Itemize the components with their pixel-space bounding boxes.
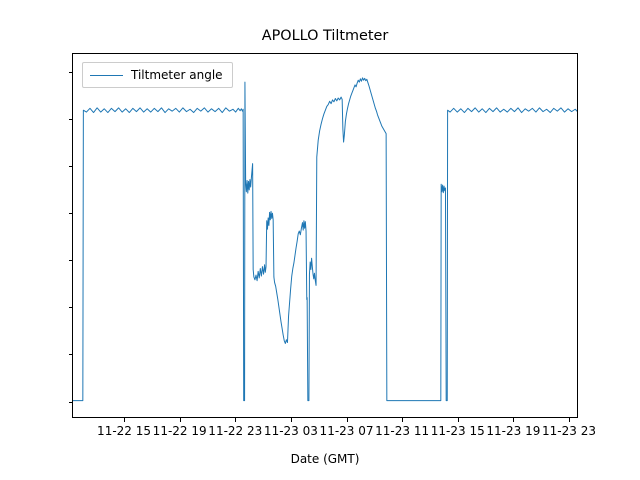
chart-title: APOLLO Tiltmeter xyxy=(72,28,578,44)
x-tick-mark xyxy=(347,418,348,422)
x-tick-label: 11-23 03 xyxy=(264,424,318,438)
x-tick-label: 11-23 07 xyxy=(320,424,374,438)
plot-area xyxy=(72,53,578,418)
x-tick-mark xyxy=(402,418,403,422)
chart-legend: Tiltmeter angle xyxy=(82,62,233,88)
x-tick-label: 11-22 15 xyxy=(97,424,151,438)
x-tick-mark xyxy=(124,418,125,422)
x-tick-label: 11-23 19 xyxy=(486,424,540,438)
x-tick-label: 11-23 15 xyxy=(431,424,485,438)
data-line-chart xyxy=(73,54,577,417)
x-tick-mark xyxy=(180,418,181,422)
legend-label-tiltmeter-angle: Tiltmeter angle xyxy=(131,68,223,82)
x-tick-label: 11-22 19 xyxy=(153,424,207,438)
x-tick-label: 11-22 23 xyxy=(208,424,262,438)
x-tick-mark xyxy=(569,418,570,422)
series-tiltmeter-angle xyxy=(73,78,577,401)
x-tick-mark xyxy=(513,418,514,422)
x-tick-mark xyxy=(458,418,459,422)
legend-line-swatch xyxy=(90,75,123,76)
x-axis-label: Date (GMT) xyxy=(72,452,578,466)
x-tick-mark xyxy=(291,418,292,422)
x-tick-label: 11-23 23 xyxy=(542,424,596,438)
x-tick-label: 11-23 11 xyxy=(375,424,429,438)
matplotlib-figure: APOLLO Tiltmeter Angle (deg) Date (GMT) … xyxy=(0,0,640,480)
x-tick-mark xyxy=(235,418,236,422)
